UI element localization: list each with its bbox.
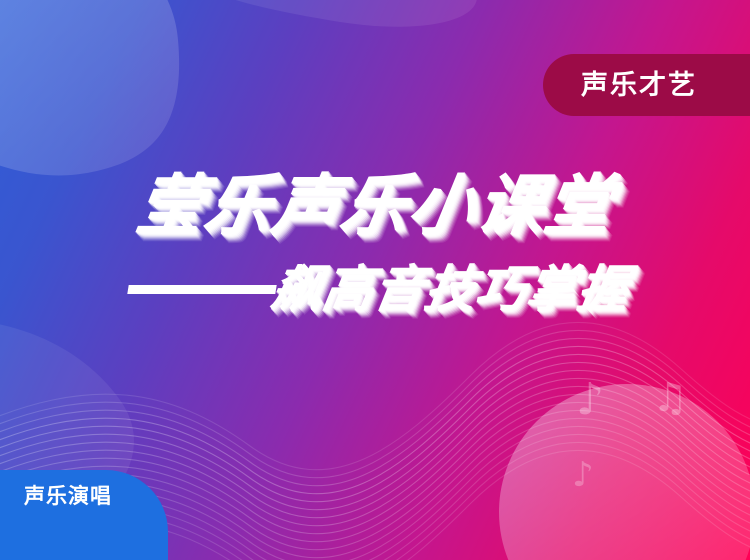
beamed-eighth-notes-icon: ♫ (652, 378, 688, 418)
page-subtitle: 飙高音技巧掌握 (268, 264, 633, 314)
category-ribbon-badge: 声乐才艺 (543, 54, 750, 116)
blob-top-center (150, 0, 477, 27)
topic-corner-badge: 声乐演唱 (0, 470, 168, 560)
decorative-circle (499, 384, 750, 560)
category-ribbon-label: 声乐才艺 (581, 72, 697, 99)
headline-block: 莹乐声乐小课堂 飙高音技巧掌握 (0, 172, 750, 314)
poster-canvas: ♪ ♫ ♪ 声乐才艺 莹乐声乐小课堂 飙高音技巧掌握 声乐演唱 (0, 0, 750, 560)
subtitle-row: 飙高音技巧掌握 (0, 264, 750, 314)
eighth-note-small-icon: ♪ (572, 458, 594, 492)
topic-corner-label: 声乐演唱 (24, 486, 112, 507)
subtitle-dash (127, 285, 276, 294)
eighth-note-icon: ♪ (576, 378, 604, 422)
blob-top-left (0, 0, 179, 175)
page-title: 莹乐声乐小课堂 (132, 172, 618, 238)
